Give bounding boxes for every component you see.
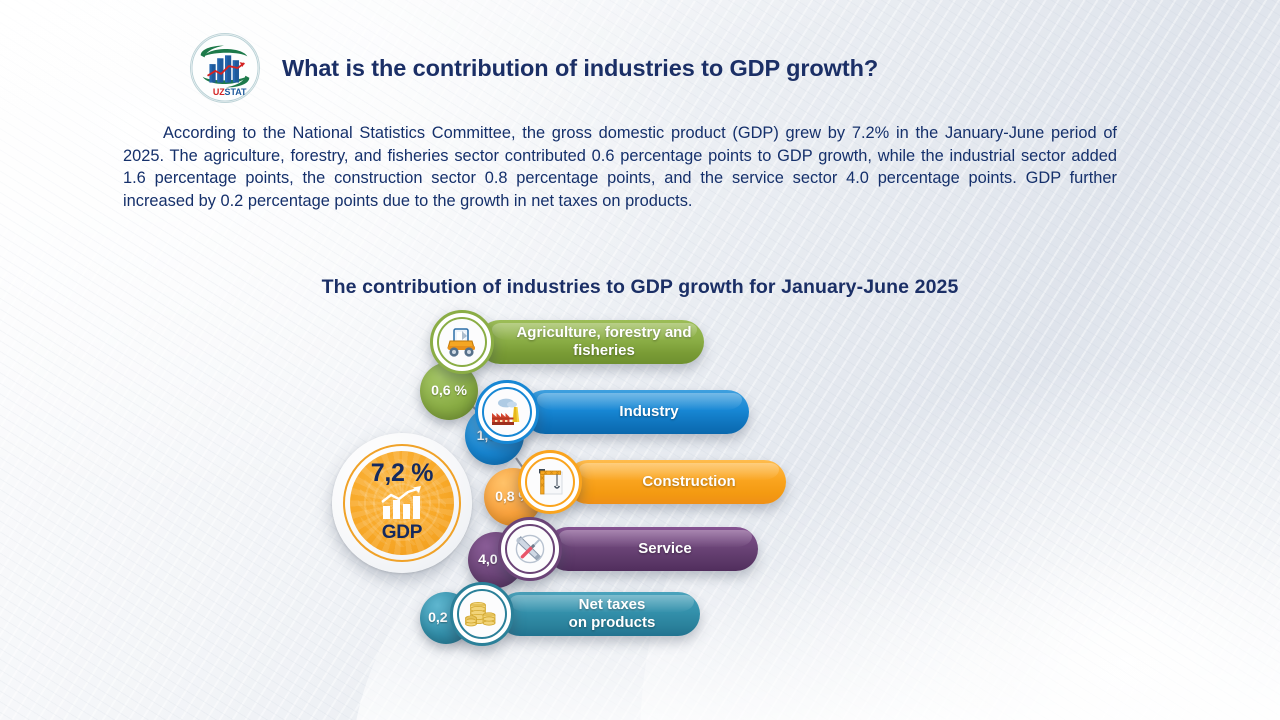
row-service: Service xyxy=(498,517,758,581)
pill-net-taxes[interactable]: Net taxes on products xyxy=(498,592,700,636)
slide-canvas: UZ STAT What is the contribution of indu… xyxy=(0,0,1280,720)
wrench-screwdriver-icon xyxy=(505,524,555,574)
pill-service[interactable]: Service xyxy=(546,527,758,571)
label-construction: Construction xyxy=(616,473,735,491)
pill-agriculture[interactable]: Agriculture, forestry and fisheries xyxy=(478,320,704,364)
row-net-taxes: Net taxes on products xyxy=(450,582,700,646)
uzstat-logo-icon: UZ STAT xyxy=(190,33,260,103)
gdp-label: GDP xyxy=(382,522,423,544)
gdp-core: 7,2 % GDP xyxy=(350,451,454,555)
tractor-icon xyxy=(437,317,487,367)
label-industry: Industry xyxy=(593,403,678,421)
gdp-outer-ring: 7,2 % GDP xyxy=(343,444,461,562)
medallion-net-taxes[interactable] xyxy=(450,582,514,646)
svg-text:UZ: UZ xyxy=(213,87,225,97)
label-net-taxes-line1: Net taxes xyxy=(579,596,646,613)
row-industry: Industry xyxy=(475,380,749,444)
bar-chart-growth-icon xyxy=(374,486,430,525)
gdp-center-node[interactable]: 7,2 % GDP xyxy=(332,433,472,573)
coin-stacks-icon xyxy=(457,589,507,639)
medallion-agriculture[interactable] xyxy=(430,310,494,374)
label-service: Service xyxy=(612,540,691,558)
intro-paragraph: According to the National Statistics Com… xyxy=(123,122,1117,212)
row-agriculture: Agriculture, forestry and fisheries xyxy=(430,310,704,374)
contribution-diagram: 7,2 % GDP xyxy=(320,310,840,680)
pill-construction[interactable]: Construction xyxy=(566,460,786,504)
medallion-service[interactable] xyxy=(498,517,562,581)
crane-icon xyxy=(525,457,575,507)
gdp-value: 7,2 % xyxy=(371,459,433,488)
chart-title: The contribution of industries to GDP gr… xyxy=(0,276,1280,299)
medallion-industry[interactable] xyxy=(475,380,539,444)
factory-icon xyxy=(482,387,532,437)
row-construction: Construction xyxy=(518,450,786,514)
page-title: What is the contribution of industries t… xyxy=(282,55,878,82)
label-net-taxes-line2: on products xyxy=(569,614,656,631)
medallion-construction[interactable] xyxy=(518,450,582,514)
label-agriculture-line2: fisheries xyxy=(573,342,635,359)
svg-text:STAT: STAT xyxy=(225,87,248,97)
slide-header: UZ STAT What is the contribution of indu… xyxy=(190,33,878,103)
label-agriculture-line1: Agriculture, forestry and xyxy=(516,324,691,341)
pill-industry[interactable]: Industry xyxy=(523,390,749,434)
